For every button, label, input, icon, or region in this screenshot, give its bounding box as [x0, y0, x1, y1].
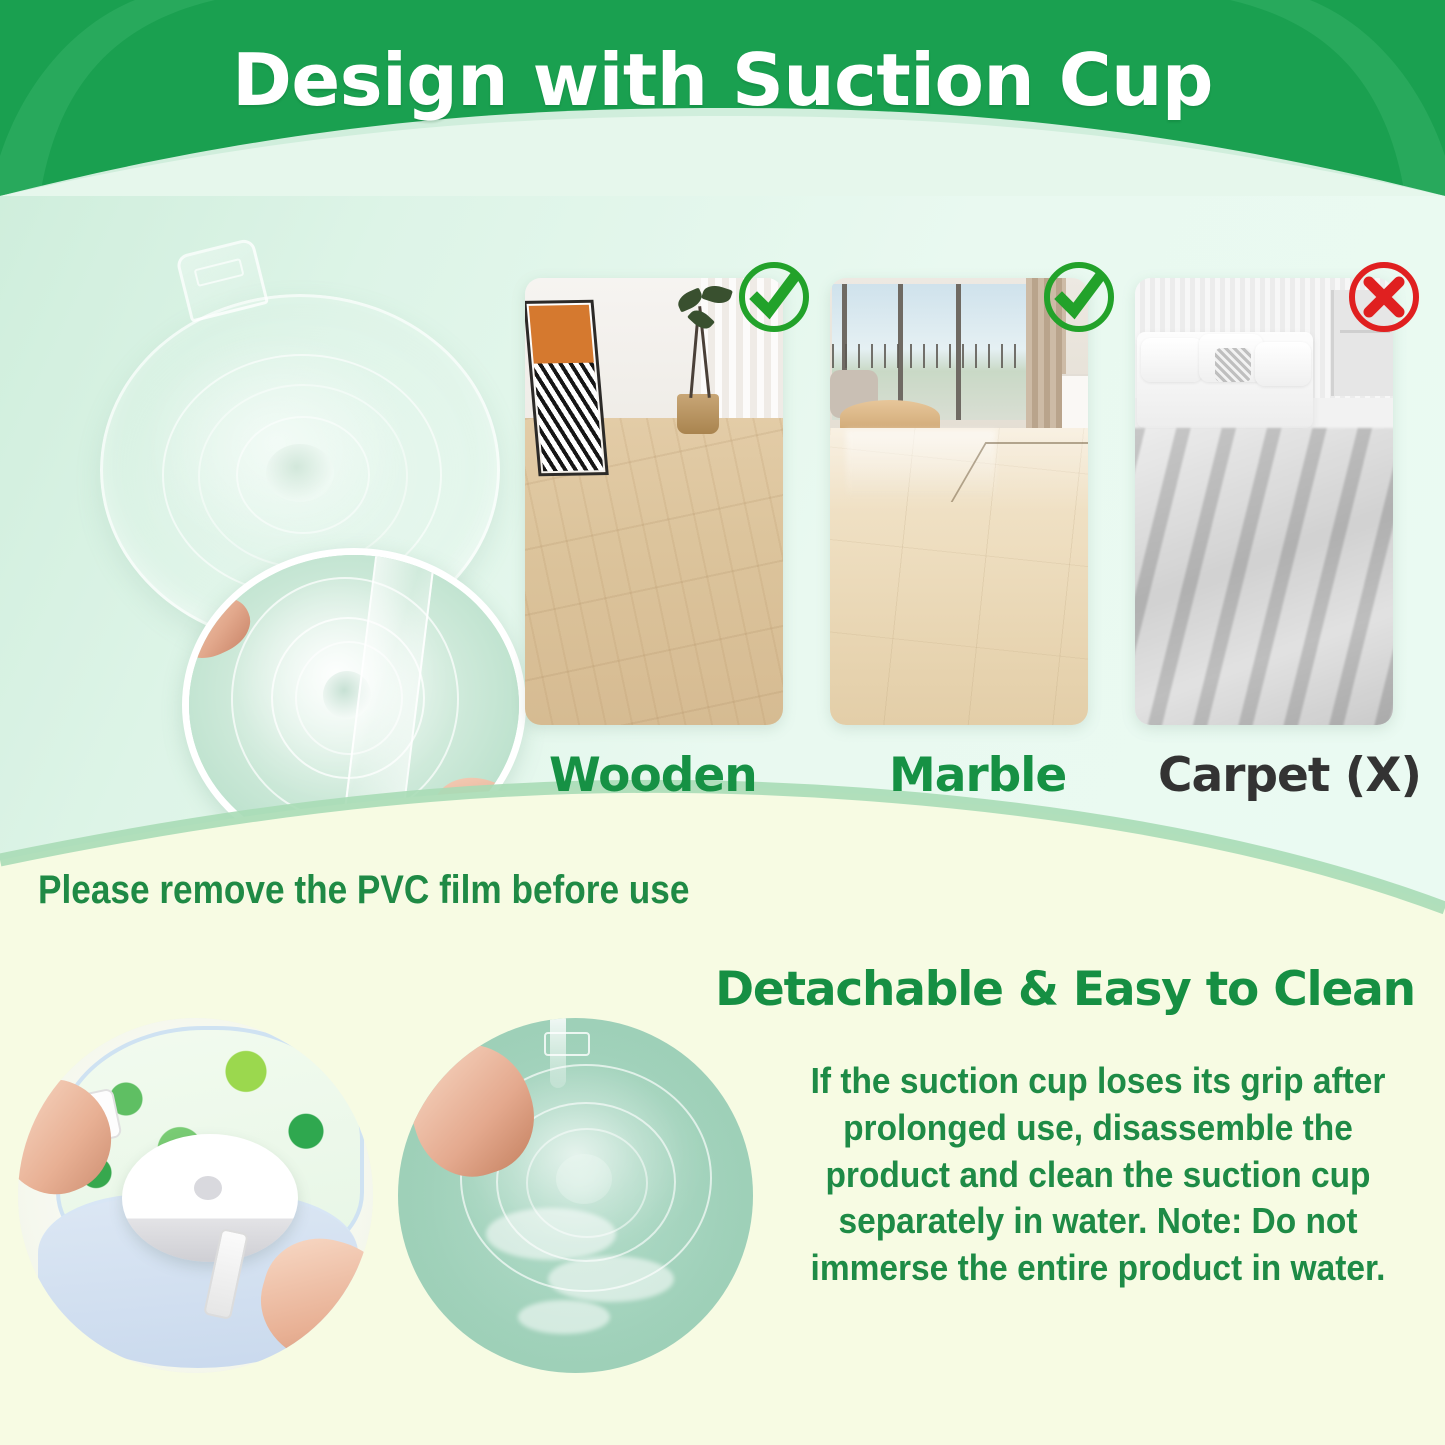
art-stripe-pattern — [534, 363, 604, 472]
detach-section-title: Detachable & Easy to Clean — [700, 962, 1430, 1017]
status-badge-check-wooden — [735, 258, 813, 336]
detach-section-body: If the suction cup loses its grip after … — [786, 1058, 1411, 1292]
infographic-page: Design with Suction Cup Pleas — [0, 0, 1445, 1445]
floor-label-marble: Marble — [889, 748, 1066, 803]
water-splash-b — [548, 1256, 674, 1302]
rinse-cup-nub — [556, 1154, 612, 1204]
header-banner: Design with Suction Cup — [0, 0, 1445, 196]
status-badge-cross-carpet — [1345, 258, 1423, 336]
marble-cabinet — [1062, 374, 1088, 428]
sofa-cushion-c — [1255, 342, 1311, 386]
carpet-rug-surface — [1135, 428, 1393, 725]
pvc-caption: Please remove the PVC film before use — [38, 868, 689, 913]
carpet-sofa — [1137, 332, 1313, 428]
water-splash-c — [518, 1300, 610, 1334]
rinse-suction-cup-photo — [398, 1018, 753, 1373]
water-stream — [550, 1018, 566, 1088]
water-splash-a — [486, 1208, 616, 1260]
check-circle-icon — [1040, 258, 1118, 336]
sofa-cushion-a — [1141, 338, 1203, 382]
status-badge-check-marble — [1040, 258, 1118, 336]
cross-circle-icon — [1345, 258, 1423, 336]
floor-label-wooden: Wooden — [549, 748, 757, 803]
balcony-railing — [832, 344, 1026, 368]
detach-base-photo — [18, 1018, 373, 1373]
wooden-plant-pot — [677, 394, 719, 434]
suction-cup-center-nub — [266, 444, 334, 502]
white-round-base — [122, 1134, 298, 1262]
sofa-throw-pillow — [1215, 348, 1251, 382]
floor-panel-wooden[interactable] — [525, 278, 783, 725]
check-circle-icon — [735, 258, 813, 336]
floor-panel-marble[interactable] — [830, 278, 1088, 725]
page-title: Design with Suction Cup — [0, 38, 1445, 122]
floor-label-carpet: Carpet (X) — [1158, 748, 1421, 803]
floor-panel-carpet[interactable] — [1135, 278, 1393, 725]
